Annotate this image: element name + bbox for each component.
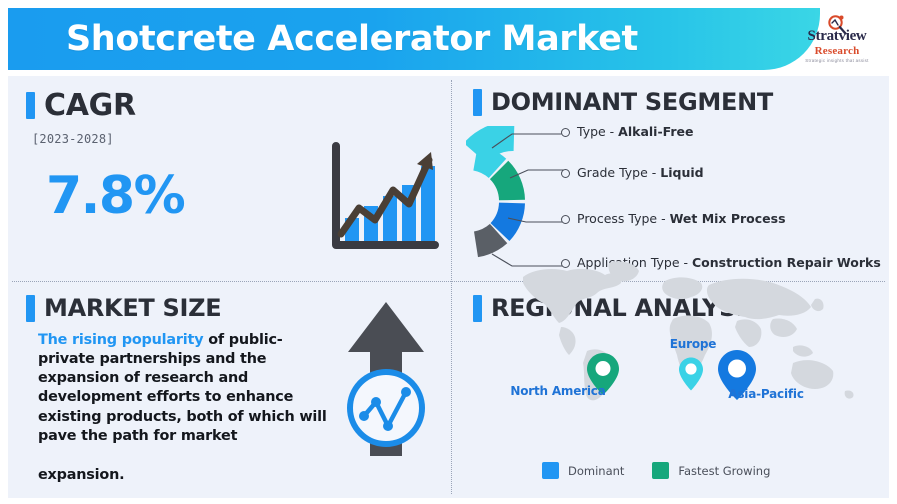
segment-value: Alkali-Free xyxy=(618,124,693,139)
segment-type: Type - Alkali-Free xyxy=(577,124,694,140)
region-label-europe: Europe xyxy=(648,338,738,352)
segment-label: Process Type - xyxy=(577,211,670,226)
market-size-body: The rising popularity of public-private … xyxy=(38,331,328,485)
cagr-section: CAGR [2023-2028] 7.8% xyxy=(26,88,184,222)
region-label-north-america: North America xyxy=(510,385,606,399)
legend-item-dominant: Dominant xyxy=(542,462,624,479)
heading-tick-icon xyxy=(473,295,482,322)
segment-label: Grade Type - xyxy=(577,165,660,180)
infographic-canvas: Shotcrete Accelerator Market Stratview R… xyxy=(0,0,897,504)
legend-swatch-fastest-growing xyxy=(652,462,669,479)
market-size-rest: of public-private partnerships and the e… xyxy=(38,332,327,444)
region-label-asia-pacific: Asia-Pacific xyxy=(722,388,810,402)
dominant-segment-title: DOMINANT SEGMENT xyxy=(491,88,773,116)
heading-tick-icon xyxy=(26,92,35,119)
cagr-period: [2023-2028] xyxy=(32,132,184,146)
map-legend: Dominant Fastest Growing xyxy=(542,462,770,479)
cagr-heading: CAGR xyxy=(26,88,184,123)
dominant-segment-heading: DOMINANT SEGMENT xyxy=(473,88,773,116)
market-size-title: MARKET SIZE xyxy=(44,294,221,322)
vertical-divider xyxy=(451,80,452,494)
page-title: Shotcrete Accelerator Market xyxy=(66,19,638,59)
segment-grade-type: Grade Type - Liquid xyxy=(577,165,704,181)
bullet-icon xyxy=(561,169,570,178)
list-item: Type - Alkali-Free xyxy=(561,124,891,140)
segment-value: Wet Mix Process xyxy=(670,211,786,226)
legend-label-fastest-growing: Fastest Growing xyxy=(678,464,770,478)
market-size-tail: expansion. xyxy=(38,466,328,485)
segment-process-type: Process Type - Wet Mix Process xyxy=(577,211,786,227)
header-bar: Shotcrete Accelerator Market xyxy=(8,8,820,70)
list-item: Grade Type - Liquid xyxy=(561,165,891,181)
magnifier-logo-icon xyxy=(826,14,848,36)
map-pin-europe[interactable] xyxy=(678,356,704,397)
market-size-highlight: The rising popularity xyxy=(38,332,203,348)
market-size-heading: MARKET SIZE xyxy=(26,294,328,322)
upward-arrow-line-chart-icon xyxy=(338,298,434,465)
cagr-value: 7.8% xyxy=(46,170,184,222)
heading-tick-icon xyxy=(26,295,35,322)
bullet-icon xyxy=(561,128,570,137)
bullet-icon xyxy=(561,215,570,224)
logo-subname: Research xyxy=(789,45,885,57)
brand-logo[interactable]: Stratview Research Strategic insights th… xyxy=(789,14,885,63)
legend-swatch-dominant xyxy=(542,462,559,479)
dominant-segment-list: Type - Alkali-Free Grade Type - Liquid P… xyxy=(561,124,891,271)
segment-value: Liquid xyxy=(660,165,703,180)
cagr-title: CAGR xyxy=(44,88,136,123)
segment-label: Type - xyxy=(577,124,618,139)
logo-tagline: Strategic insights that assist xyxy=(789,58,885,63)
growth-bar-chart-icon xyxy=(323,138,441,261)
list-item: Process Type - Wet Mix Process xyxy=(561,211,891,227)
market-size-section: MARKET SIZE The rising popularity of pub… xyxy=(26,294,328,485)
legend-label-dominant: Dominant xyxy=(568,464,624,478)
legend-item-fastest-growing: Fastest Growing xyxy=(652,462,770,479)
dominant-segment-section: DOMINANT SEGMENT xyxy=(473,88,773,116)
heading-tick-icon xyxy=(473,89,482,116)
